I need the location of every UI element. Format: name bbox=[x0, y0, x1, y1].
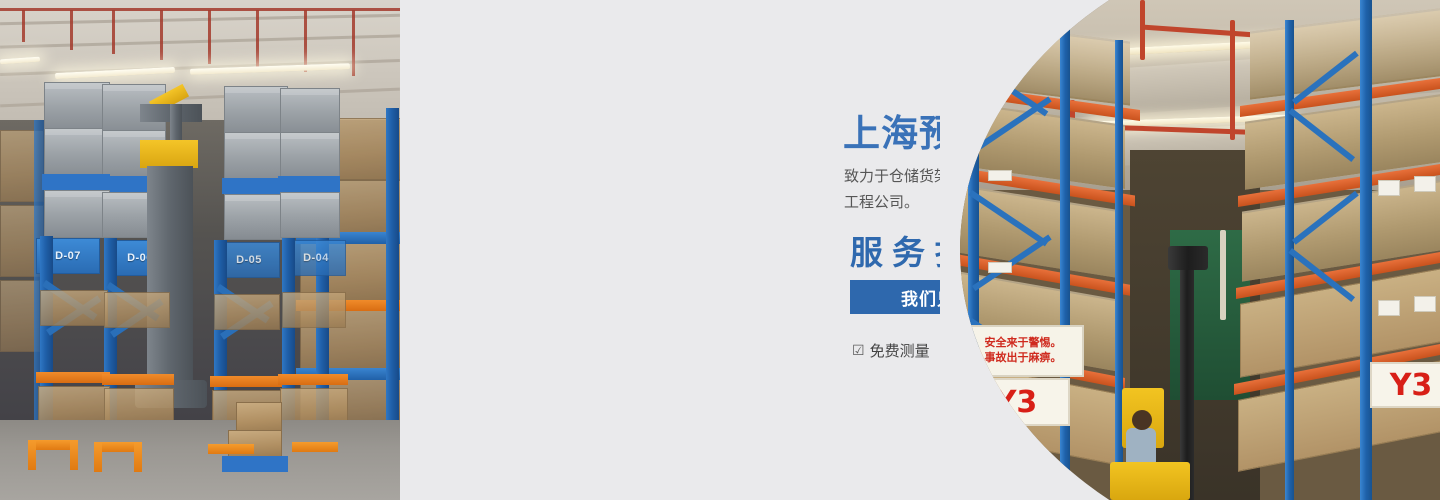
shelf-label bbox=[1414, 176, 1436, 192]
warehouse-floor bbox=[0, 420, 400, 500]
stacked-tote bbox=[224, 86, 288, 136]
pallet-load bbox=[214, 294, 280, 330]
sprinkler-drop bbox=[304, 10, 307, 72]
stacked-tote bbox=[224, 194, 288, 240]
aisle-sign-text: Y3 bbox=[1390, 368, 1433, 403]
sprinkler-drop bbox=[256, 10, 259, 68]
sprinkler-pipe bbox=[0, 8, 400, 11]
shelf-label bbox=[1414, 296, 1436, 312]
rack-label-text: D-04 bbox=[303, 252, 329, 264]
sprinkler-pipe bbox=[1230, 20, 1235, 140]
operator-head bbox=[1132, 410, 1152, 430]
rack-base-guard bbox=[292, 442, 338, 452]
pallet-load bbox=[282, 292, 346, 328]
shelf-label bbox=[988, 170, 1012, 181]
left-warehouse-photo: D-07 D-06 D-05 D-04 bbox=[0, 0, 400, 500]
aisle-sign-right: Y3 bbox=[1370, 362, 1440, 408]
stacked-tote bbox=[44, 190, 110, 238]
right-warehouse-photo: 安全来于警惕。 事故出于麻痹。 Y3 Y3 bbox=[940, 0, 1440, 500]
forklift-mast bbox=[147, 166, 193, 390]
rack-base-guard bbox=[208, 444, 254, 454]
rack-beam bbox=[278, 374, 348, 385]
rack-label-text: D-05 bbox=[236, 254, 262, 266]
sprinkler-drop bbox=[112, 10, 115, 54]
rack-label-text: D-07 bbox=[55, 250, 81, 262]
shelf-label bbox=[1378, 300, 1400, 316]
sprinkler-pipe bbox=[1140, 0, 1145, 60]
safety-sign-line-2: 事故出于麻痹。 bbox=[985, 351, 1062, 366]
checkbox-check-icon: ☑ bbox=[852, 343, 865, 359]
stacked-tote bbox=[280, 192, 340, 238]
pallet-load bbox=[40, 290, 108, 326]
pallet-load bbox=[104, 292, 170, 328]
rack-beam bbox=[36, 372, 110, 383]
rack-base-guard bbox=[28, 440, 36, 470]
sprinkler-drop bbox=[70, 10, 73, 50]
stacked-tote bbox=[224, 132, 288, 182]
rack-beam bbox=[102, 374, 174, 385]
rack-upright bbox=[1360, 0, 1372, 500]
hero-banner: D-07 D-06 D-05 D-04 bbox=[0, 0, 1440, 500]
forklift-body bbox=[1110, 462, 1190, 500]
sprinkler-drop bbox=[208, 10, 211, 64]
rack-upright bbox=[968, 10, 979, 500]
rack-upright bbox=[1060, 20, 1070, 500]
sprinkler-drop bbox=[22, 10, 25, 42]
rack-base-guard bbox=[134, 442, 142, 472]
stacked-tote bbox=[44, 82, 110, 132]
forklift-carriage bbox=[1168, 246, 1208, 270]
stacked-tote bbox=[44, 128, 110, 178]
shelf-label bbox=[988, 262, 1012, 273]
rack-upright bbox=[386, 108, 399, 473]
shelf-label bbox=[1378, 180, 1400, 196]
right-photo-wrapper: 安全来于警惕。 事故出于麻痹。 Y3 Y3 bbox=[940, 0, 1440, 500]
rack-base-guard bbox=[70, 440, 78, 470]
aisle-sign-text: Y3 bbox=[995, 385, 1038, 420]
rack-upright bbox=[1285, 20, 1294, 500]
feature-item-0: ☑ 免费测量 bbox=[852, 340, 930, 361]
forklift-cab bbox=[140, 140, 198, 168]
safety-sign: 安全来于警惕。 事故出于麻痹。 bbox=[962, 325, 1084, 377]
sprinkler-drop bbox=[160, 10, 163, 60]
rack-label-3: D-04 bbox=[286, 240, 346, 276]
rack-label-2: D-05 bbox=[218, 242, 280, 278]
blue-pallet bbox=[278, 176, 340, 192]
stacked-tote bbox=[280, 88, 340, 136]
sprinkler-drop bbox=[352, 10, 355, 76]
safety-sign-line-1: 安全来于警惕。 bbox=[985, 336, 1062, 351]
blue-pallet bbox=[222, 456, 288, 472]
feature-label: 免费测量 bbox=[870, 340, 930, 361]
aisle-sign-left: Y3 bbox=[962, 378, 1070, 426]
rack-base-guard bbox=[94, 442, 102, 472]
rack-beam bbox=[210, 376, 282, 387]
stacked-tote bbox=[280, 132, 340, 180]
yellow-post bbox=[1220, 230, 1226, 320]
